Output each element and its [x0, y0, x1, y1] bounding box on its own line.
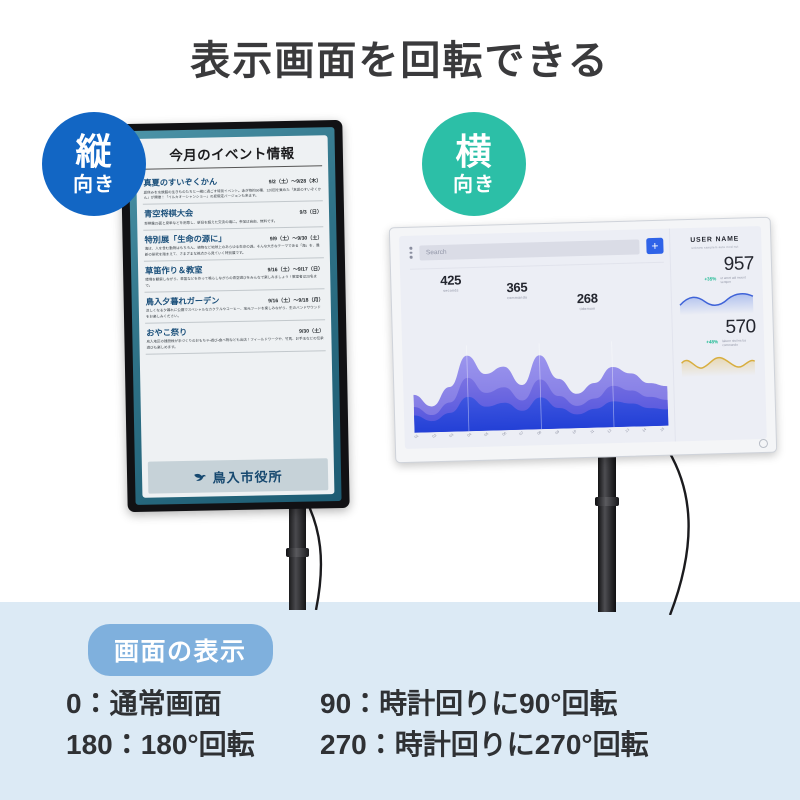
- event-body: 海は、人を含む動物はもちろん、植物など地球上のあらゆる生命の源。そんな大きなテー…: [145, 244, 323, 258]
- legend-line: 90：時計回りに90°回転: [320, 684, 800, 725]
- stat-value: 425: [440, 272, 461, 288]
- rotation-legend: 0：通常画面 180：180°回転 90：時計回りに90°回転 270：時計回り…: [0, 684, 800, 765]
- bird-icon: [193, 471, 207, 483]
- organization-name: 鳥入市役所: [212, 466, 282, 486]
- legend-line: 0：通常画面: [66, 684, 320, 725]
- badge-portrait: 縦 向き: [42, 112, 146, 216]
- x-tick: 14: [642, 427, 652, 438]
- legend-line: 180：180°回転: [66, 725, 320, 766]
- landscape-monitor: Search + 425 seconds 365 commando 268: [389, 217, 777, 464]
- add-button[interactable]: +: [646, 238, 663, 254]
- flyer-title: 今月のイベント情報: [142, 141, 322, 169]
- landscape-screen: Search + 425 seconds 365 commando 268: [399, 226, 767, 449]
- page-root: 表示画面を回転できる 今月のイベント情報 真夏のすいぞくかん 9/2（土）〜9/…: [0, 0, 800, 800]
- screen-display-badge: 画面の表示: [88, 624, 273, 676]
- event-date: 9/9（土）〜9/30（土）: [270, 234, 323, 242]
- dashboard-main: Search + 425 seconds 365 commando 268: [399, 229, 675, 449]
- kpi-subtitle: ut amet adi mount ventper: [720, 275, 754, 285]
- badge-landscape: 横 向き: [422, 112, 526, 216]
- user-subtitle: unknow samplem aute mod nut: [676, 244, 753, 250]
- badge-portrait-main: 縦: [75, 134, 112, 170]
- event-date: 9/16（土）〜9/17（日）: [268, 265, 324, 273]
- x-tick: 03: [449, 433, 459, 444]
- landscape-stand-pole: [598, 452, 616, 612]
- event-item: 草笛作り＆教室 9/16（土）〜9/17（日） 環境を観察しながら、草笛などを作…: [144, 258, 325, 292]
- x-tick: 01: [414, 434, 424, 445]
- event-title: おやこ祭り: [146, 326, 187, 339]
- sparkline-blue: [678, 287, 756, 315]
- portrait-stand-collar: [286, 548, 309, 557]
- event-body: 夏休みを水族館の生きものたちと一緒に過ごす特別イベント。泳ぎ物約56種、120回…: [144, 187, 322, 201]
- x-tick: 09: [554, 430, 564, 441]
- x-tick: 13: [624, 428, 634, 439]
- x-tick: 06: [502, 431, 512, 442]
- area-chart-svg: [412, 340, 668, 433]
- kpi-card: 570 +48% labore nisi ies ba commando: [678, 317, 757, 378]
- event-title: 真夏のすいぞくかん: [143, 175, 217, 188]
- event-title: 青空将棋大会: [144, 207, 193, 220]
- event-item: おやこ祭り 9/30（土） 鳥入地区の建設株が手づくりのおもちゃ・遊び・食べ物な…: [145, 320, 326, 354]
- area-chart: 010203040506070809101112131415: [411, 287, 669, 445]
- kpi-value: 957: [677, 254, 755, 275]
- kpi-delta: +35%: [704, 276, 716, 281]
- kpi-delta: +48%: [706, 339, 718, 344]
- stat-item: 425 seconds: [440, 272, 461, 293]
- landscape-cable: [640, 450, 730, 615]
- event-title: 特別展「生命の源に」: [144, 232, 226, 246]
- kpi-card: 957 +35% ut amet adi mount ventper: [677, 254, 756, 315]
- badge-portrait-sub: 向き: [73, 175, 115, 195]
- event-date: 9/2（土）〜9/28（木）: [269, 177, 322, 185]
- user-name: USER NAME: [676, 235, 753, 244]
- event-date: 9/3（日）: [300, 208, 323, 215]
- sparkline-gold: [679, 349, 757, 377]
- dashboard-sidebar: USER NAME unknow samplem aute mod nut 95…: [669, 226, 767, 441]
- badge-landscape-sub: 向き: [453, 175, 495, 195]
- event-item: 鳥入夕暮れガーデン 9/16（土）〜9/18（月） 涼しくなる夕暮れに公園でスペ…: [145, 289, 326, 323]
- user-block: USER NAME unknow samplem aute mod nut: [676, 235, 753, 250]
- x-tick: 11: [589, 429, 599, 440]
- event-item: 真夏のすいぞくかん 9/2（土）〜9/28（木） 夏休みを水族館の生きものたちと…: [142, 170, 323, 204]
- x-tick: 07: [519, 431, 529, 442]
- legend-column-left: 0：通常画面 180：180°回転: [0, 684, 320, 765]
- legend-column-right: 90：時計回りに90°回転 270：時計回りに270°回転: [320, 684, 800, 765]
- search-input[interactable]: Search: [419, 239, 640, 260]
- x-tick: 08: [537, 430, 547, 441]
- x-tick: 02: [431, 433, 441, 444]
- x-tick: 05: [484, 432, 494, 443]
- event-date: 9/16（土）〜9/18（月）: [268, 296, 324, 304]
- event-body: 鳥入地区の建設株が手づくりのおもちゃ・遊び・食べ物なども出店！フィールドワークや…: [146, 337, 324, 351]
- event-item: 特別展「生命の源に」 9/9（土）〜9/30（土） 海は、人を含む動物はもちろん…: [143, 227, 324, 261]
- x-tick: 15: [659, 427, 669, 438]
- kpi-subtitle: labore nisi ies ba commando: [722, 338, 756, 348]
- event-item: 青空将棋大会 9/3（日） 将棋盤25面と席単などを用意し、新旧を超えた交流の場…: [143, 201, 323, 230]
- portrait-screen: 今月のイベント情報 真夏のすいぞくかん 9/2（土）〜9/28（木） 夏休みを水…: [128, 127, 341, 505]
- badge-landscape-main: 横: [455, 134, 492, 170]
- event-flyer: 今月のイベント情報 真夏のすいぞくかん 9/2（土）〜9/28（木） 夏休みを水…: [136, 135, 335, 498]
- event-body: 涼しくなる夕暮れに公園でスペシャルなカクテルやコーヒー、地元フードを楽しみながら…: [146, 306, 324, 320]
- x-tick: 10: [572, 429, 582, 440]
- event-title: 鳥入夕暮れガーデン: [146, 294, 220, 307]
- legend-line: 270：時計回りに270°回転: [320, 725, 800, 766]
- flyer-footer: 鳥入市役所: [148, 458, 329, 493]
- event-body: 環境を観察しながら、草笛などを作って鳴らしながらの青空遊びをみんなで楽しみましょ…: [145, 275, 323, 289]
- event-title: 草笛作り＆教室: [145, 263, 203, 276]
- x-tick: 04: [466, 432, 476, 443]
- dashboard-toolbar: Search +: [409, 238, 663, 261]
- portrait-monitor: 今月のイベント情報 真夏のすいぞくかん 9/2（土）〜9/28（木） 夏休みを水…: [120, 120, 349, 512]
- landscape-stand-collar: [595, 497, 619, 506]
- x-tick: 12: [607, 428, 617, 439]
- event-date: 9/30（土）: [299, 327, 324, 334]
- page-title: 表示画面を回転できる: [0, 28, 800, 86]
- kpi-value: 570: [678, 317, 756, 338]
- kebab-menu-icon[interactable]: [409, 247, 412, 259]
